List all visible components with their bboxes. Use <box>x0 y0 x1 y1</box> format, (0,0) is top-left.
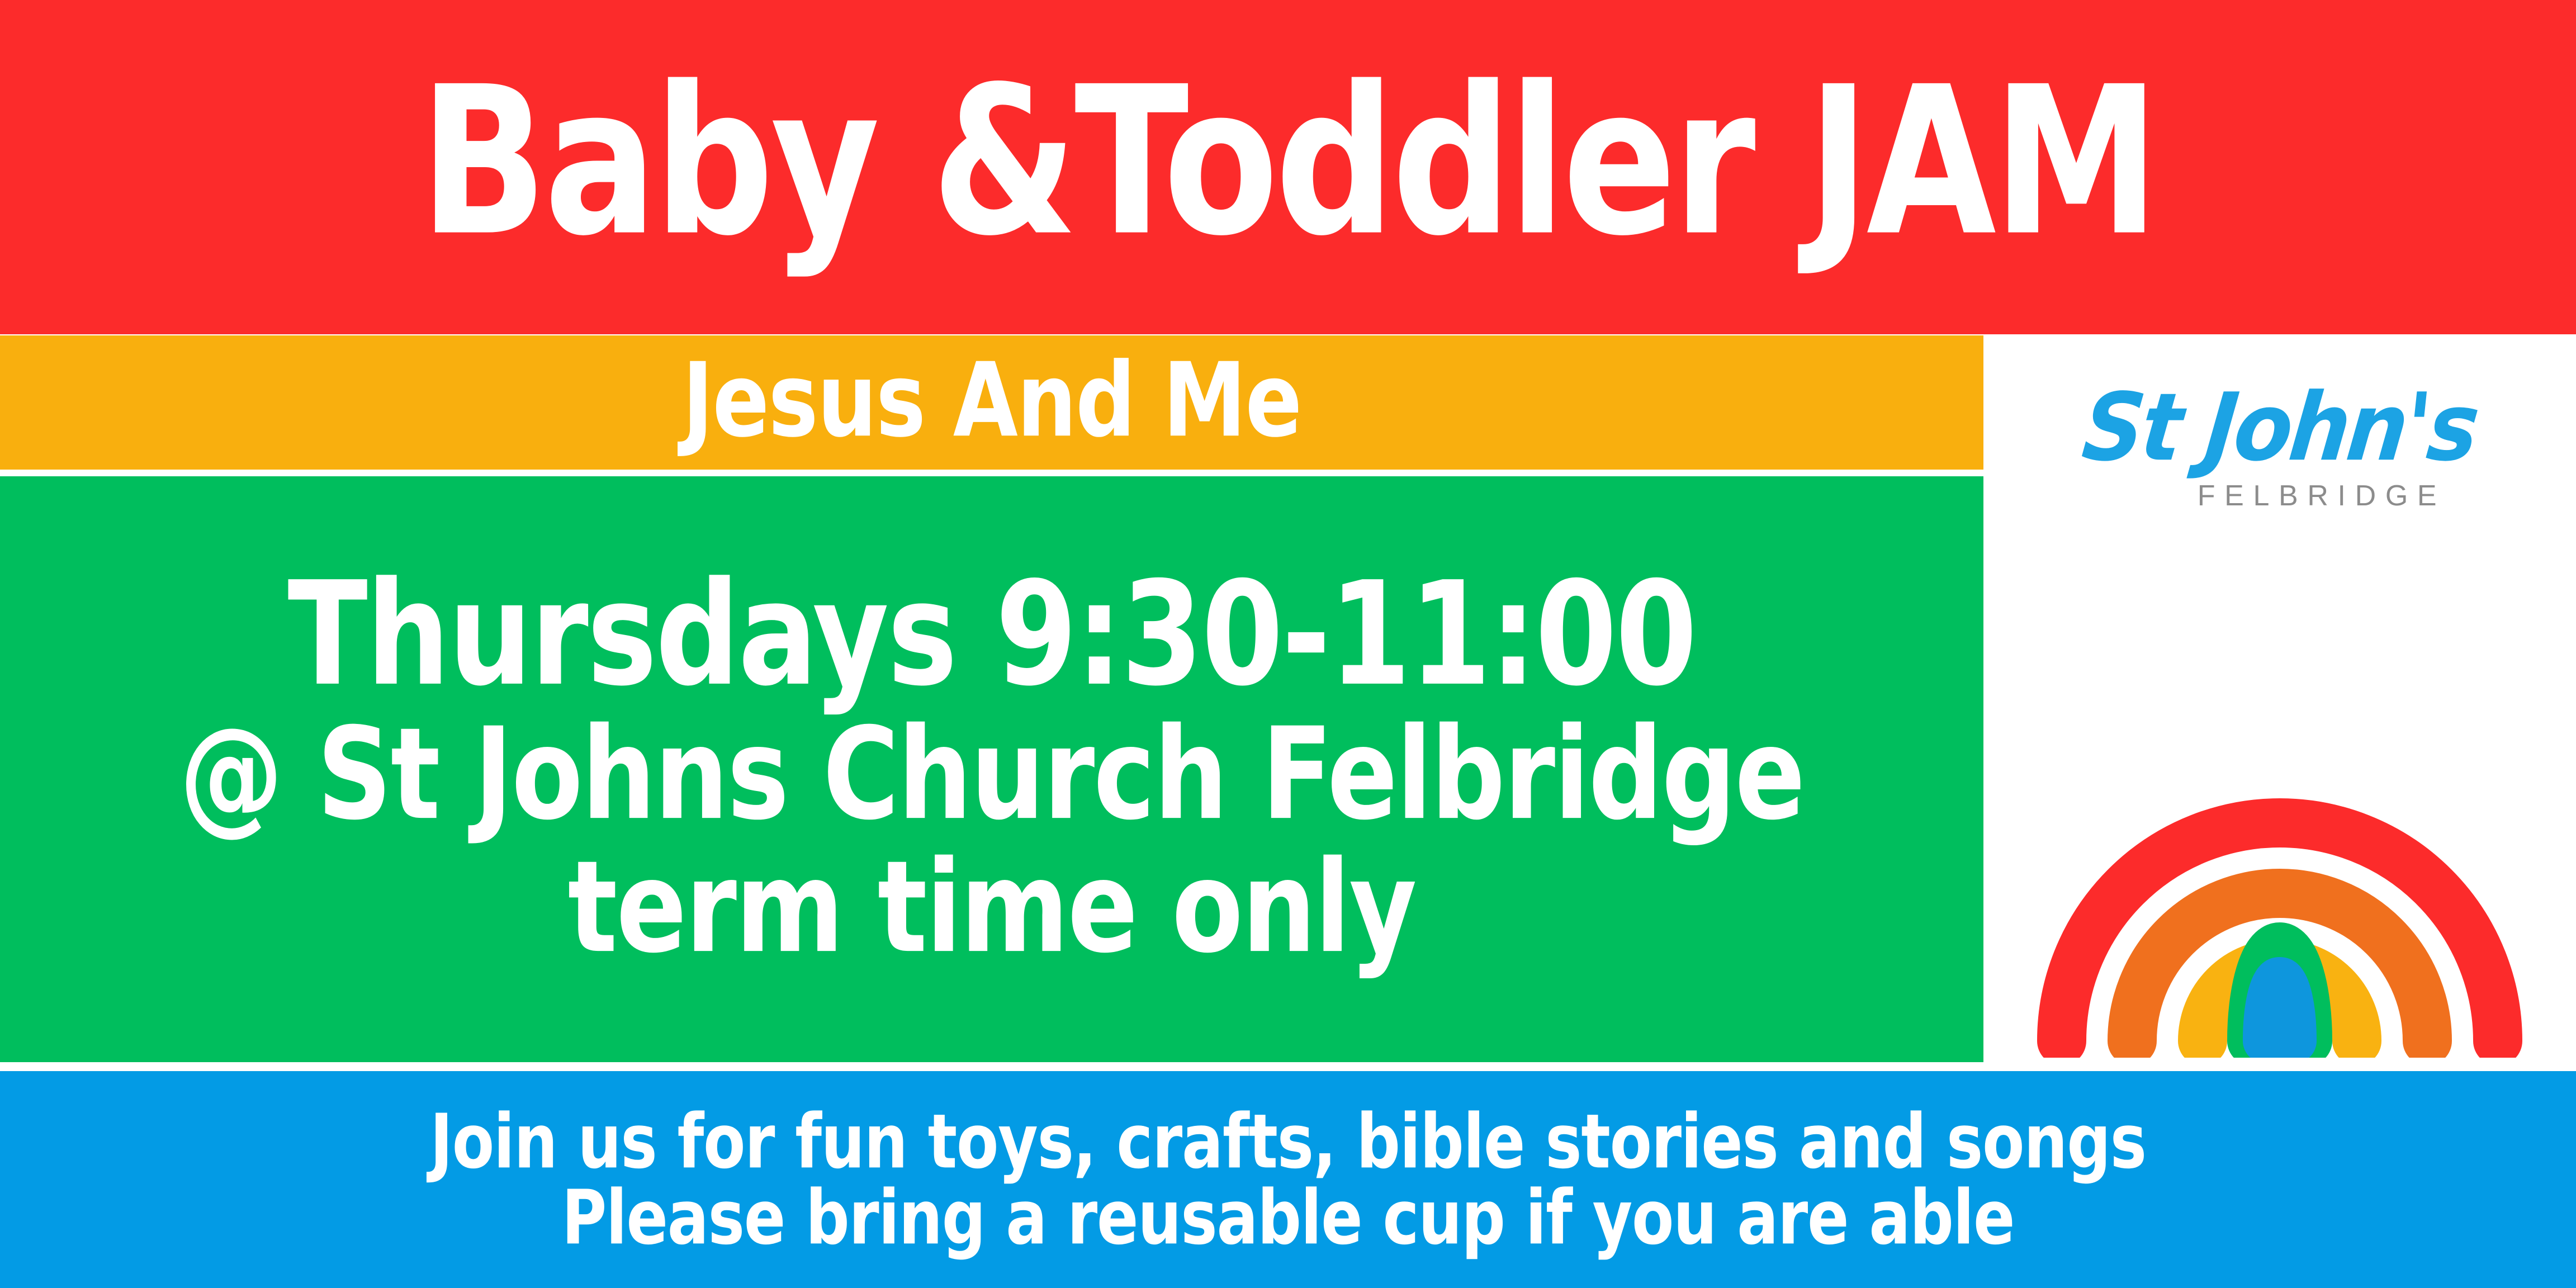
page-title: Baby &Toddler JAM <box>420 60 2157 264</box>
poster-canvas: Baby &Toddler JAM Jesus And Me Thursdays… <box>0 0 2576 1288</box>
subtitle-band: Jesus And Me <box>0 335 1983 470</box>
details-day-time: Thursdays 9:30-11:00 <box>288 563 1696 706</box>
arc-blue <box>2265 979 2294 1041</box>
footer-cup-request-text: Please bring a reusable cup if you are a… <box>562 1180 2015 1255</box>
details-band: Thursdays 9:30-11:00 @ St Johns Church F… <box>0 476 1983 1062</box>
logo-location-label: FELBRIDGE <box>2198 479 2446 513</box>
page-subtitle: Jesus And Me <box>683 350 1301 452</box>
footer-activities-text: Join us for fun toys, crafts, bible stor… <box>430 1104 2146 1179</box>
details-schedule-note: term time only <box>568 844 1416 971</box>
details-location: @ St Johns Church Felbridge <box>179 711 1804 838</box>
rainbow-icon <box>2028 616 2531 1058</box>
footer-band: Join us for fun toys, crafts, bible stor… <box>0 1071 2576 1288</box>
logo-panel: St John's FELBRIDGE <box>1983 335 2576 1062</box>
st-johns-logo: St John's FELBRIDGE <box>1983 335 2576 542</box>
rainbow-graphic-wrap <box>1983 542 2576 1062</box>
title-band: Baby &Toddler JAM <box>0 0 2576 334</box>
logo-wordmark: St John's <box>2078 381 2480 474</box>
